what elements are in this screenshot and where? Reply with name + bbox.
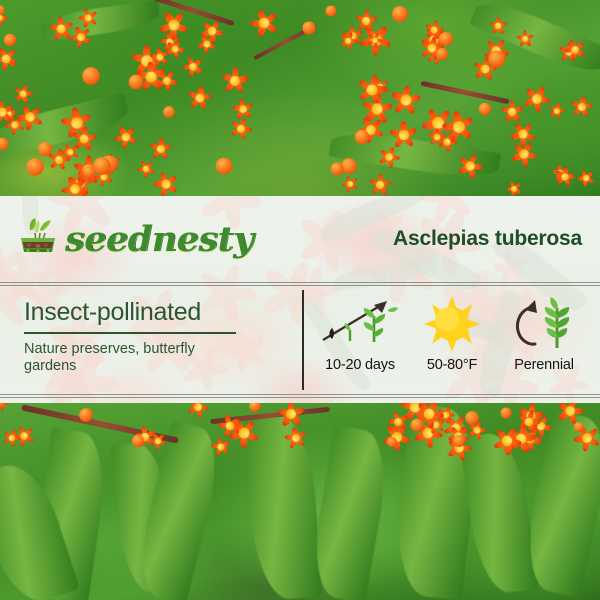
- bottom-leaf-photo: [0, 403, 600, 600]
- flower-bud: [79, 408, 93, 422]
- brand-lockup: seednesty: [16, 216, 253, 263]
- life-cycle: Perennial: [498, 292, 590, 373]
- flower-bud: [4, 34, 16, 46]
- flower-bud: [392, 6, 408, 22]
- flower-bud: [325, 5, 336, 16]
- flower-bud: [93, 157, 111, 175]
- info-row: Insect-pollinated Nature preserves, butt…: [0, 286, 600, 394]
- flower-petal-cluster: [488, 422, 526, 460]
- seed-packet: seednesty Asclepias tuberosa Insect-poll…: [0, 0, 600, 600]
- flower-bud: [501, 407, 512, 418]
- temperature-range-label: 50-80°F: [406, 357, 498, 373]
- flower-petal-cluster: [147, 135, 175, 163]
- flower-petal-cluster: [13, 99, 48, 134]
- flower-bud: [478, 102, 491, 115]
- flower-bud: [465, 411, 479, 425]
- flower-bud: [26, 158, 43, 175]
- info-panel: seednesty Asclepias tuberosa Insect-poll…: [0, 196, 600, 403]
- flower-bud: [132, 434, 144, 446]
- temperature-range: 50-80°F: [406, 292, 498, 373]
- flower-bud: [302, 22, 315, 35]
- flower-petal-cluster: [574, 166, 597, 189]
- info-subtitle: Nature preserves, butterfly gardens: [24, 341, 232, 376]
- divider-bottom: [0, 394, 600, 398]
- vertical-divider: [302, 290, 304, 390]
- flower-bud: [128, 75, 143, 90]
- top-flower-photo: [0, 0, 600, 196]
- flower-petal-cluster: [228, 116, 255, 143]
- spec-icons: 10-20 days: [300, 286, 600, 394]
- sun-icon: [406, 292, 498, 356]
- life-cycle-label: Perennial: [498, 357, 590, 373]
- seed-tray-sprout-icon: [16, 216, 60, 263]
- info-title: Insect-pollinated: [24, 300, 300, 325]
- flower-petal-cluster: [387, 118, 422, 153]
- flower-bud: [489, 50, 506, 67]
- flower-petal-cluster: [567, 92, 596, 121]
- info-title-underline: [24, 332, 236, 334]
- brand-header: seednesty Asclepias tuberosa: [0, 196, 600, 282]
- flower-petal-cluster: [552, 164, 578, 190]
- perennial-cycle-plant-icon: [498, 292, 590, 356]
- flower-petal-cluster: [151, 168, 181, 196]
- pollination-info: Insect-pollinated Nature preserves, butt…: [0, 286, 300, 394]
- germination-time-label: 10-20 days: [314, 357, 406, 373]
- species-name: Asclepias tuberosa: [393, 227, 582, 251]
- germination-growth-arrow-icon: [314, 292, 406, 356]
- flower-petal-cluster: [184, 81, 216, 113]
- brand-name: seednesty: [65, 222, 253, 257]
- flower-bud: [453, 435, 465, 447]
- germination-time: 10-20 days: [314, 292, 406, 373]
